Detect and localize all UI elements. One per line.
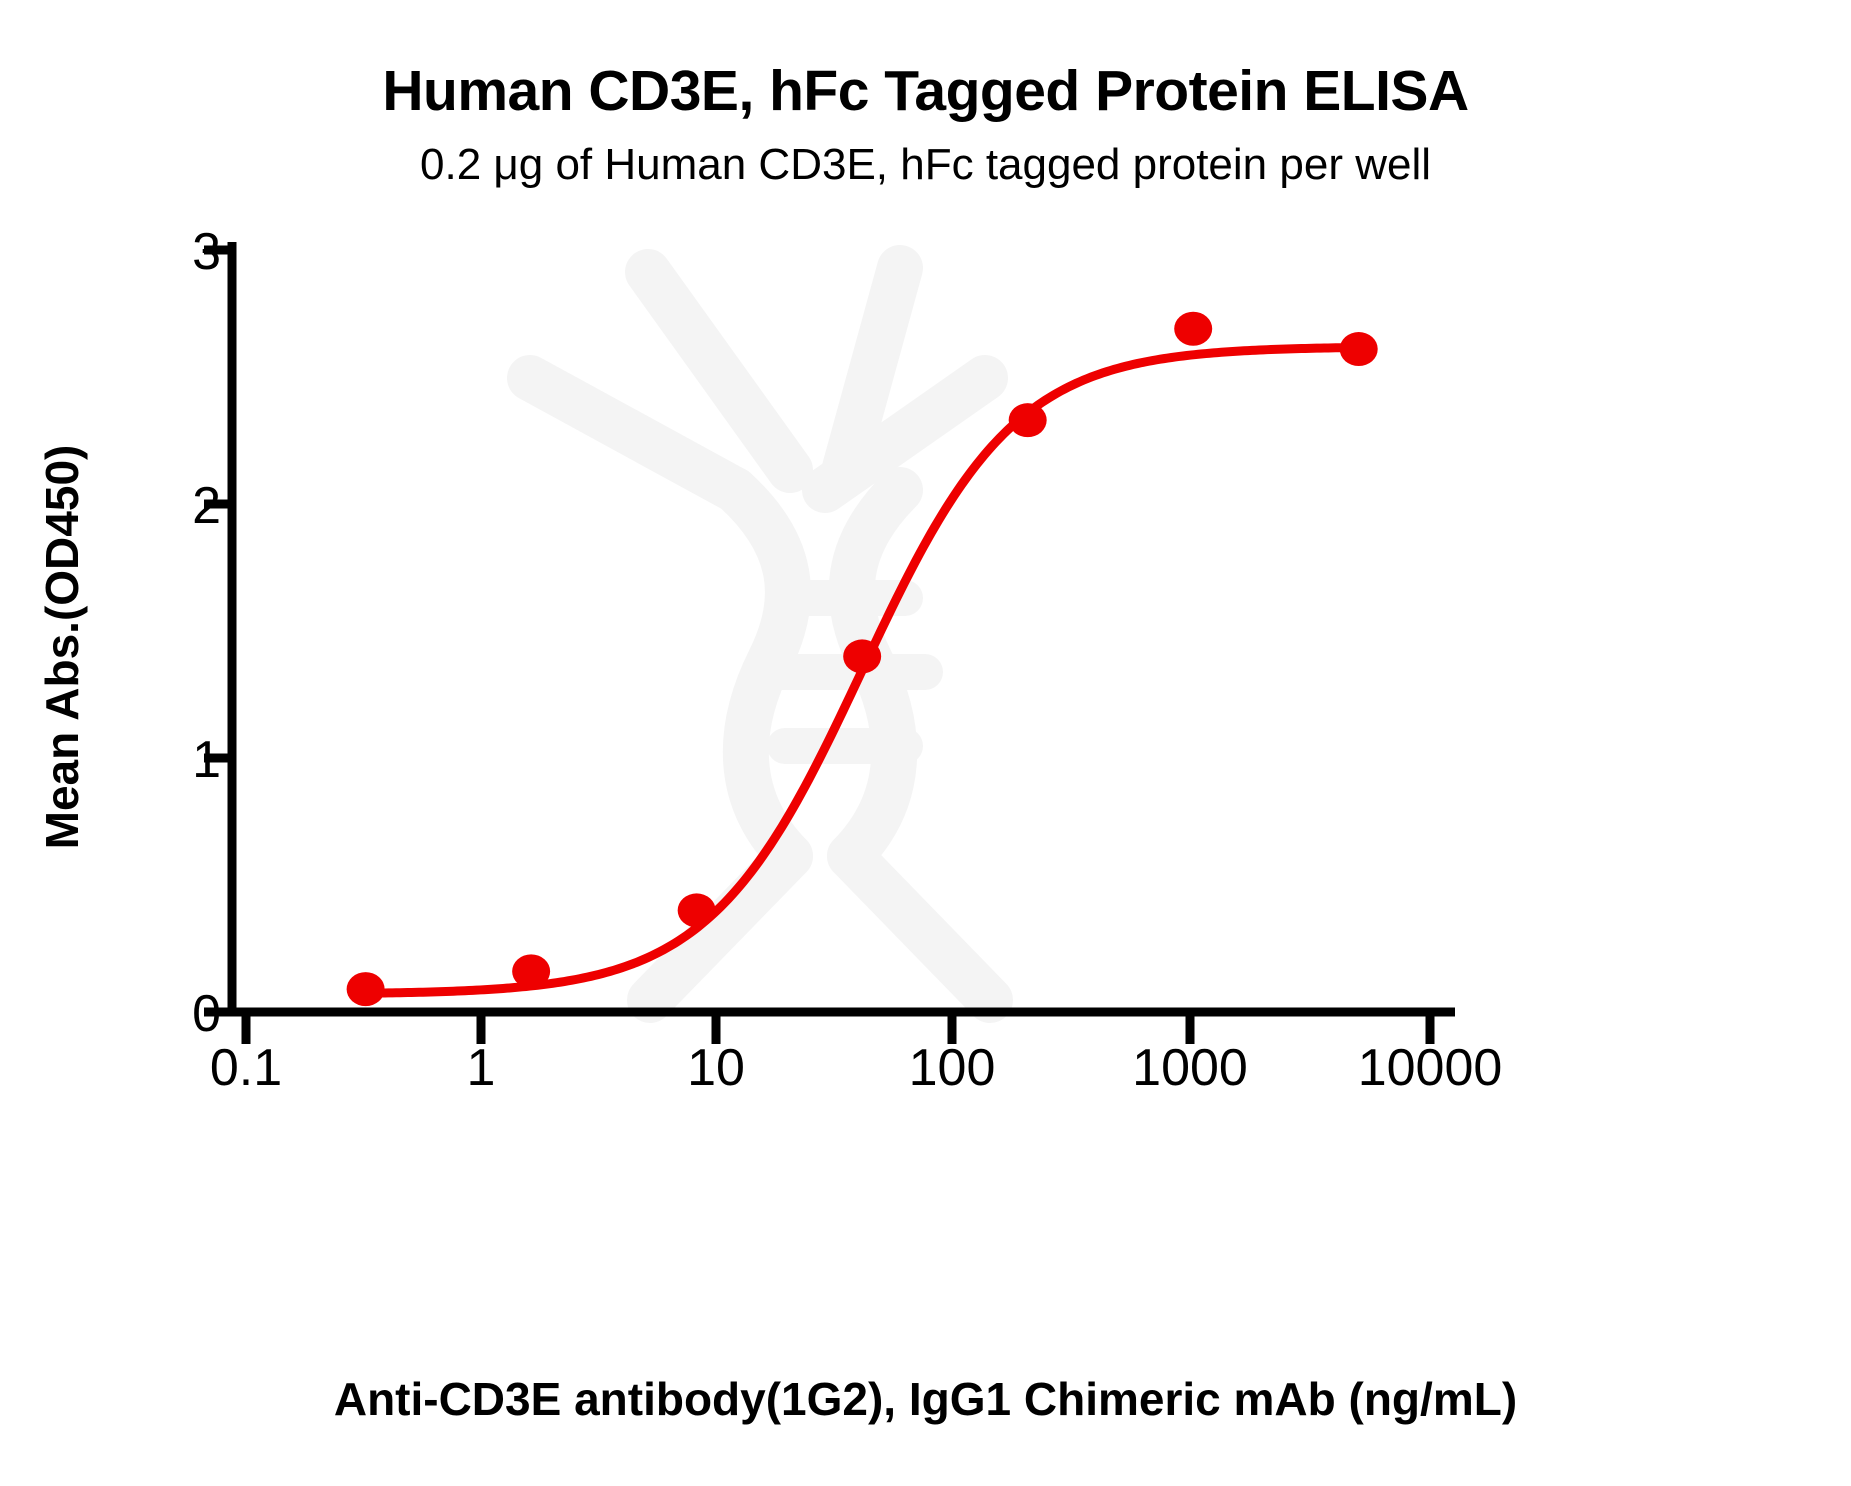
y-tick-label-2: 2 (101, 480, 221, 532)
data-point-markers (347, 312, 1378, 1006)
x-tick-label-1000: 1000 (1132, 1042, 1248, 1094)
x-tick-label-1: 1 (467, 1042, 496, 1094)
x-tick-marks (246, 1012, 1430, 1044)
x-axis-title: Anti-CD3E antibody(1G2), IgG1 Chimeric m… (0, 1372, 1851, 1426)
y-tick-label-1: 1 (101, 734, 221, 786)
y-tick-marks (204, 250, 232, 1012)
data-point (347, 972, 385, 1006)
dna-helix-watermark (530, 268, 990, 1000)
data-point (678, 893, 716, 927)
data-point (1340, 332, 1378, 366)
fit-curve (366, 347, 1359, 993)
y-tick-label-0: 0 (101, 988, 221, 1040)
x-tick-label-100: 100 (909, 1042, 996, 1094)
x-tick-label-10000: 10000 (1358, 1042, 1503, 1094)
data-point (1009, 403, 1047, 437)
data-point (1174, 312, 1212, 346)
data-point (512, 954, 550, 988)
x-tick-label-0.1: 0.1 (210, 1042, 282, 1094)
x-tick-label-10: 10 (687, 1042, 745, 1094)
chart-title: Human CD3E, hFc Tagged Protein ELISA (0, 58, 1851, 124)
chart-canvas (0, 0, 1851, 1486)
chart-subtitle: 0.2 μg of Human CD3E, hFc tagged protein… (0, 140, 1851, 190)
data-point (843, 639, 881, 673)
y-tick-label-3: 3 (101, 226, 221, 278)
elisa-chart-figure: Human CD3E, hFc Tagged Protein ELISA 0.2… (0, 0, 1851, 1486)
y-axis-title: Mean Abs.(OD450) (35, 367, 89, 927)
